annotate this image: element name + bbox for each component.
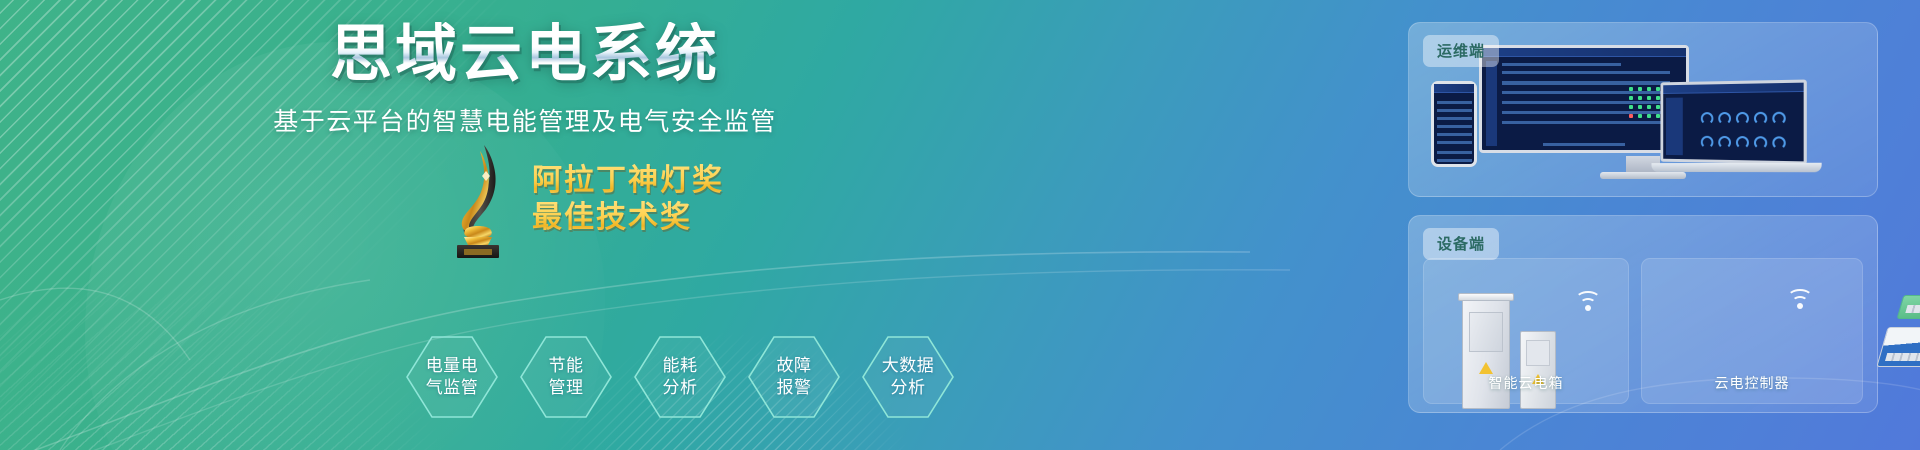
feature-label: 大数据 分析: [882, 355, 935, 400]
laptop-screen-body: [1663, 92, 1803, 161]
wifi-icon: [1572, 287, 1604, 311]
feature-label: 能耗 分析: [663, 355, 698, 400]
promo-banner: 思域云电系统 基于云平台的智慧电能管理及电气安全监管: [0, 0, 1920, 450]
monitor-base: [1600, 172, 1686, 179]
award-line-2: 最佳技术奖: [532, 200, 724, 237]
panel-devices: 设备端 智能云电箱: [1408, 215, 1878, 413]
panel-operations: 运维端: [1408, 22, 1878, 197]
award-text: 阿拉丁神灯奖 最佳技术奖: [532, 163, 724, 236]
feature-label-line1: 能耗: [663, 356, 698, 375]
monitor-titlebar: [1482, 48, 1686, 57]
feature-label: 节能 管理: [549, 355, 584, 400]
feature-label-line2: 管理: [549, 378, 584, 397]
feature-label: 电量电 气监管: [426, 355, 479, 400]
monitor-screen-body: [1482, 57, 1686, 150]
laptop-base: [1651, 163, 1821, 172]
controller-blue-module-a: [1876, 327, 1920, 367]
left-content: 思域云电系统 基于云平台的智慧电能管理及电气安全监管: [0, 0, 1050, 450]
right-content: 运维端: [1408, 22, 1878, 430]
cabinet-top: [1458, 293, 1514, 301]
feature-label-line1: 节能: [549, 356, 584, 375]
panel-badge-devices: 设备端: [1423, 228, 1499, 260]
page-title: 思域云电系统: [330, 22, 720, 88]
feature-label-line1: 故障: [777, 356, 812, 375]
feature-label-line2: 分析: [663, 378, 698, 397]
device-caption-cabinet: 智能云电箱: [1424, 373, 1628, 393]
feature-hex-power-monitoring[interactable]: 电量电 气监管: [404, 334, 500, 420]
monitor-mockup: [1479, 45, 1689, 153]
laptop-mockup: [1660, 79, 1806, 164]
award-line-1: 阿拉丁神灯奖: [532, 163, 724, 200]
feature-label-line2: 报警: [777, 378, 812, 397]
feature-label-line2: 气监管: [426, 378, 479, 397]
phone-titlebar: [1434, 84, 1474, 93]
page-subtitle: 基于云平台的智慧电能管理及电气安全监管: [0, 102, 1050, 138]
wifi-icon: [1784, 285, 1816, 309]
phone-screen-body: [1434, 93, 1474, 164]
gauge-panel: [1701, 107, 1798, 151]
panel-badge-operations: 运维端: [1423, 35, 1499, 67]
feature-label-line1: 大数据: [882, 356, 935, 375]
secondary-cabinet-icon: [1520, 331, 1556, 409]
award-block: 阿拉丁神灯奖 最佳技术奖: [440, 140, 860, 260]
headline-block: 思域云电系统 基于云平台的智慧电能管理及电气安全监管: [0, 22, 1050, 138]
feature-hex-consumption-analysis[interactable]: 能耗 分析: [632, 334, 728, 420]
feature-hex-big-data-analysis[interactable]: 大数据 分析: [860, 334, 956, 420]
device-card-cabinet: 智能云电箱: [1423, 258, 1629, 404]
feature-hex-energy-saving[interactable]: 节能 管理: [518, 334, 614, 420]
trophy-icon: [440, 141, 516, 259]
feature-hex-fault-alarm[interactable]: 故障 报警: [746, 334, 842, 420]
feature-label-line1: 电量电: [426, 356, 479, 375]
device-card-controller: 云电控制器: [1641, 258, 1863, 404]
controller-green-module: [1897, 295, 1920, 319]
feature-label-line2: 分析: [891, 378, 926, 397]
device-caption-controller: 云电控制器: [1642, 373, 1862, 393]
feature-label: 故障 报警: [777, 355, 812, 400]
phone-mockup: [1431, 81, 1477, 167]
feature-list: 电量电 气监管 节能 管理 能耗 分析: [404, 334, 956, 420]
